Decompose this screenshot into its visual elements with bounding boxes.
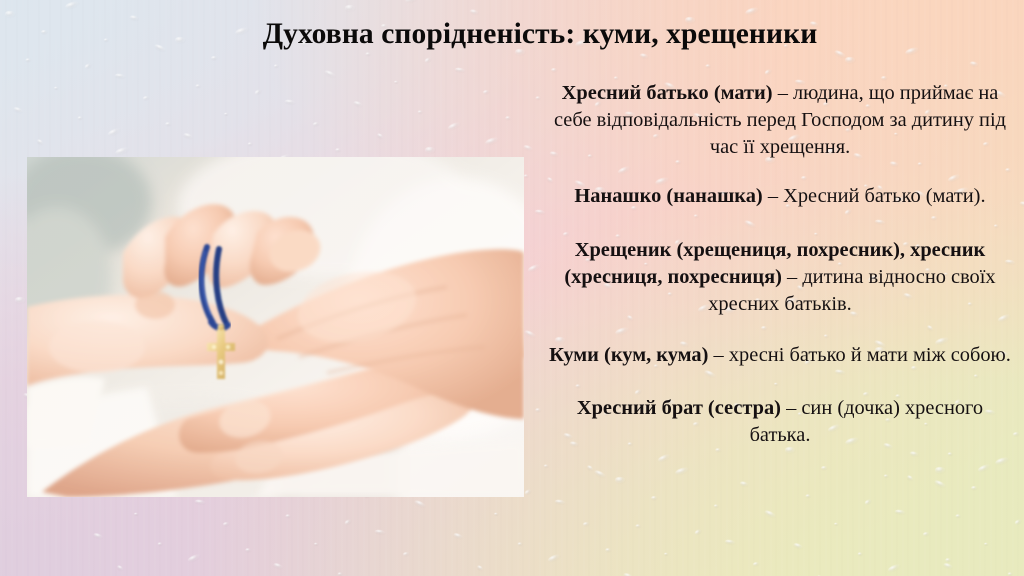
definition-item: Хресний батько (мати) – людина, що прийм… [546,80,1014,161]
definition-item: Нанашко (нанашка) – Хресний батько (мати… [546,183,1014,210]
definition-term: Куми (кум, кума) [549,344,708,366]
definitions-list: Хресний батько (мати) – людина, що прийм… [546,80,1014,449]
definition-term: Нанашко (нанашка) [574,185,762,207]
definition-dash: – [708,344,728,366]
baptism-photo [27,157,524,497]
definition-dash: – [763,185,783,207]
definition-dash: – [781,397,801,419]
slide: Духовна спорідненість: куми, хрещеники [0,0,1024,576]
definition-text: хресні батько й мати між собою. [729,344,1011,366]
definition-item: Куми (кум, кума) – хресні батько й мати … [546,342,1014,369]
definition-item: Хрещеник (хрещениця, похресник), хресник… [546,237,1014,318]
definition-text: Хресний батько (мати). [783,185,985,207]
definition-term: Хресний батько (мати) [562,82,773,104]
page-title: Духовна спорідненість: куми, хрещеники [120,18,960,51]
definition-dash: – [782,266,802,288]
definition-item: Хресний брат (сестра) – син (дочка) хрес… [546,395,1014,449]
definition-dash: – [773,82,793,104]
definition-term: Хресний брат (сестра) [577,397,781,419]
